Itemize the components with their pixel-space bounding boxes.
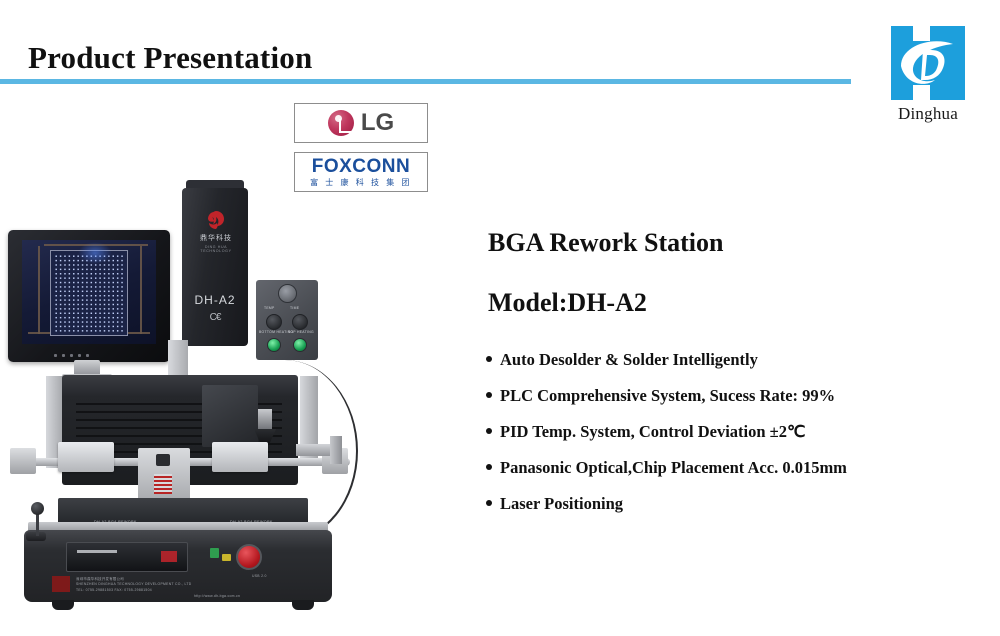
base-tel: TEL: 0755-29881503 FAX: 0755-29881504: [76, 588, 152, 592]
pcb-holder-knob[interactable]: [156, 454, 170, 466]
feature-text: Laser Positioning: [500, 494, 623, 514]
dinghua-red-logo-icon: [206, 210, 226, 230]
knob-top-heat[interactable]: [292, 314, 308, 330]
product-name: BGA Rework Station: [488, 228, 723, 258]
base-web: http://www.dh-bga.com.cn: [194, 594, 240, 598]
brand-logo: Dinghua: [878, 26, 978, 130]
rail-end-left: [10, 448, 36, 474]
list-item: PLC Comprehensive System, Sucess Rate: 9…: [486, 386, 847, 406]
ce-mark-icon: C€: [182, 312, 248, 323]
feature-text: Auto Desolder & Solder Intelligently: [500, 350, 758, 370]
slide-page: Product Presentation Dinghua LG FOXCONN …: [0, 0, 1000, 636]
monitor-screen: [22, 240, 156, 344]
bullet-icon: [486, 428, 492, 434]
lg-logo-icon: [328, 110, 354, 136]
page-title: Product Presentation: [28, 40, 312, 76]
pcb-clamp-right[interactable]: [212, 442, 268, 472]
lg-logo-text: LG: [361, 109, 394, 137]
dinghua-logo-icon: [891, 26, 965, 100]
knob-label-left: TEMP: [264, 306, 275, 310]
product-photo: 鼎华科技 DING HUA TECHNOLOGY DH-A2 C€ TEMP T…: [0, 180, 380, 610]
feature-text: PLC Comprehensive System, Sucess Rate: 9…: [500, 386, 835, 406]
base-foot: [52, 600, 74, 610]
list-item: PID Temp. System, Control Deviation ±2℃: [486, 422, 847, 442]
feature-list: Auto Desolder & Solder Intelligently PLC…: [486, 350, 847, 530]
control-panel[interactable]: TEMP TIME BOTTOM HEATING TOP HEATING: [256, 280, 318, 360]
bullet-icon: [486, 356, 492, 362]
feature-text: Panasonic Optical,Chip Placement Acc. 0.…: [500, 458, 847, 478]
monitor-buttons[interactable]: [54, 354, 89, 357]
nozzle-shaft: [258, 409, 272, 431]
tower-model-label: DH-A2: [182, 293, 248, 307]
pcb-clamp-left[interactable]: [58, 442, 114, 472]
machine-monitor: [8, 230, 170, 362]
list-item: Panasonic Optical,Chip Placement Acc. 0.…: [486, 458, 847, 478]
tower-brand-en: DING HUA TECHNOLOGY: [192, 245, 240, 253]
indicator-led-right: [293, 338, 307, 352]
side-arm-bracket: [330, 436, 342, 464]
indicator-led-left: [267, 338, 281, 352]
list-item: Auto Desolder & Solder Intelligently: [486, 350, 847, 370]
base-foot: [292, 600, 314, 610]
bullet-icon: [486, 392, 492, 398]
emergency-stop-button[interactable]: [236, 544, 262, 570]
knob-sublabel-right: TOP HEATING: [288, 330, 314, 334]
list-item: Laser Positioning: [486, 494, 847, 514]
knob-label-right: TIME: [290, 306, 299, 310]
pcb-holder[interactable]: [138, 448, 190, 502]
machine-base: 深圳市鼎华科技开发有限公司 SHENZHEN DINGHUA TECHNOLOG…: [24, 530, 332, 602]
client-logo-lg: LG: [294, 103, 428, 143]
bullet-icon: [486, 464, 492, 470]
joystick-base[interactable]: [26, 532, 46, 541]
start-button[interactable]: [210, 548, 219, 558]
reset-button[interactable]: [222, 554, 231, 561]
product-model: Model:DH-A2: [488, 288, 647, 318]
base-logo-plate: [52, 576, 70, 592]
base-port-label: USB 2.0: [252, 574, 267, 578]
knob-bottom-heat[interactable]: [266, 314, 282, 330]
base-company-en: SHENZHEN DINGHUA TECHNOLOGY DEVELOPMENT …: [76, 582, 192, 586]
timer-dial[interactable]: [278, 284, 297, 303]
bullet-icon: [486, 500, 492, 506]
joystick-knob[interactable]: [31, 502, 44, 515]
brand-name: Dinghua: [878, 104, 978, 124]
header-divider: [0, 79, 851, 84]
base-display: [66, 542, 188, 572]
nozzle-block: [202, 385, 258, 447]
tower-brand-cn: 鼎华科技 DING HUA TECHNOLOGY: [192, 233, 240, 253]
foxconn-logo-text: FOXCONN: [310, 157, 412, 176]
base-company-cn: 深圳市鼎华科技开发有限公司: [76, 576, 124, 581]
machine-tower: 鼎华科技 DING HUA TECHNOLOGY DH-A2 C€: [182, 188, 248, 346]
pcb-marking: [154, 474, 172, 494]
feature-text: PID Temp. System, Control Deviation ±2℃: [500, 422, 806, 442]
